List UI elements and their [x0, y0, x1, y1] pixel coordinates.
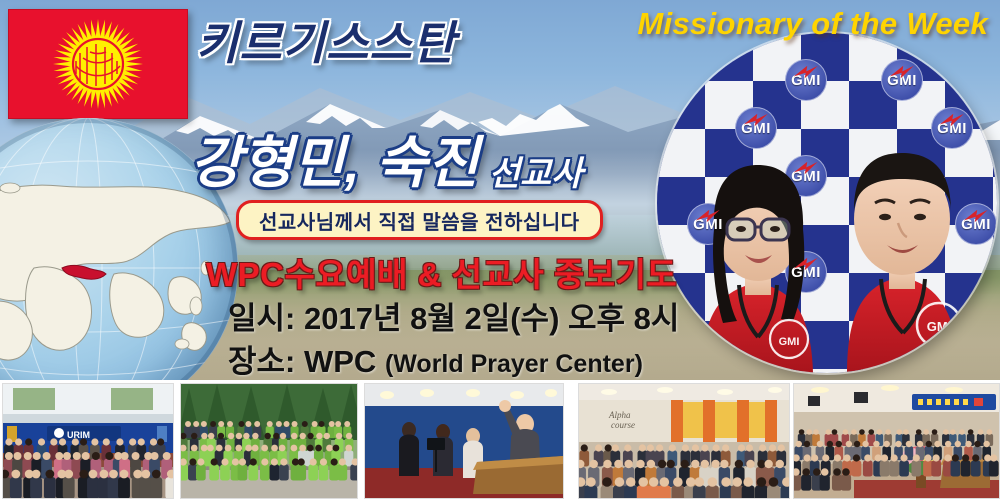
photo-strip: URIM — [0, 380, 1000, 500]
missionary-name-line: 강형민, 숙진 선교사 — [190, 118, 583, 199]
photo-congregation-worship[interactable] — [793, 383, 1000, 499]
photo-alpha-course-fellowship[interactable]: Alpha course — [578, 383, 790, 499]
photo-outdoor-green-shirts-group[interactable] — [180, 383, 358, 499]
announcement-ribbon: 선교사님께서 직접 말씀을 전하십니다 — [236, 200, 603, 240]
svg-text:GMI: GMI — [927, 319, 952, 334]
event-venue-sub: (World Prayer Center) — [385, 350, 643, 378]
event-headline: WPC수요예배 & 선교사 중보기도 — [206, 248, 677, 296]
event-venue-label: 장소: — [228, 344, 295, 379]
announcement-ribbon-text: 선교사님께서 직접 말씀을 전하십니다 — [259, 206, 580, 235]
svg-text:GMI: GMI — [779, 336, 800, 348]
couple-figures: GMI GMI — [657, 33, 997, 373]
missionary-couple-portrait: GMI GMI GMI GMI GMI GMI GMI GMI — [657, 33, 997, 373]
flag-sun-icon — [44, 10, 152, 118]
photo-pulpit-preaching[interactable] — [364, 383, 564, 499]
event-datetime-label: 일시: — [228, 301, 295, 336]
missionary-names: 강형민, 숙진 — [190, 118, 479, 199]
photo-wall-text-2: course — [611, 420, 635, 430]
photo-church-group-urim[interactable]: URIM — [2, 383, 174, 499]
event-venue-value: WPC — [304, 344, 376, 379]
kyrgyzstan-flag — [8, 9, 188, 119]
missionary-of-the-week-poster: GMI GMI GMI GMI GMI GMI GMI GMI — [0, 0, 1000, 500]
page-title: Missionary of the Week — [637, 6, 988, 42]
event-venue: 장소: WPC (World Prayer Center) — [228, 336, 643, 381]
event-datetime: 일시: 2017년 8월 2일(수) 오후 8시 — [228, 293, 679, 338]
photo-wall-text: Alpha — [608, 410, 631, 420]
missionary-title-suffix: 선교사 — [489, 146, 583, 199]
country-name: 키르기스스탄 — [196, 7, 456, 73]
event-datetime-value: 2017년 8월 2일(수) 오후 8시 — [304, 301, 679, 336]
